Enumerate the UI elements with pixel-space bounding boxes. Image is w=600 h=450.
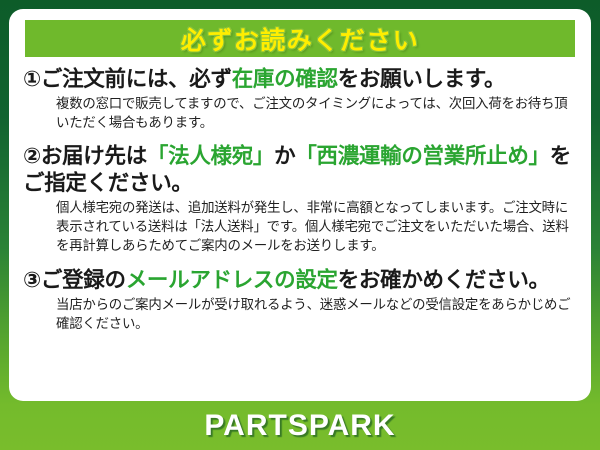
notice-item-list: ①ご注文前には、必ず在庫の確認をお願いします。 複数の窓口で販売してますので、ご… [9, 63, 591, 333]
notice-item-1-heading-part-1: ご注文前には、必ず [41, 67, 232, 91]
notice-item-2-heading-highlight-1: 「法人様宛」 [147, 144, 274, 168]
notice-item-2-marker: ② [23, 144, 41, 168]
notice-item-1: ①ご注文前には、必ず在庫の確認をお願いします。 複数の窓口で販売してますので、ご… [9, 66, 591, 132]
footer-bar: PARTSPARK [0, 401, 600, 450]
notice-card: 必ずお読みください ①ご注文前には、必ず在庫の確認をお願いします。 複数の窓口で… [0, 0, 600, 450]
notice-item-3-heading-highlight: メールアドレスの設定 [126, 268, 338, 292]
notice-item-3-heading: ③ご登録のメールアドレスの設定をお確かめください。 [23, 267, 579, 293]
notice-item-3: ③ご登録のメールアドレスの設定をお確かめください。 当店からのご案内メールが受け… [9, 267, 591, 333]
notice-item-2-heading-highlight-2: 「西濃運輸の営業所止め」 [295, 144, 549, 168]
notice-item-2-body: 個人様宅宛の発送は、追加送料が発生し、非常に高額となってしまいます。ご注文時に表… [56, 198, 579, 255]
notice-item-2: ②お届け先は「法人様宛」か「西濃運輸の営業所止め」をご指定ください。 個人様宅宛… [9, 143, 591, 255]
notice-item-1-body: 複数の窓口で販売してますので、ご注文のタイミングによっては、次回入荷をお待ち頂い… [56, 94, 579, 132]
notice-item-3-heading-part-3: をお確かめください。 [338, 268, 550, 292]
notice-item-2-heading-part-1: お届け先は [41, 144, 147, 168]
notice-item-1-heading: ①ご注文前には、必ず在庫の確認をお願いします。 [23, 66, 579, 92]
notice-item-3-marker: ③ [23, 268, 41, 292]
notice-panel: 必ずお読みください ①ご注文前には、必ず在庫の確認をお願いします。 複数の窓口で… [9, 9, 591, 401]
notice-item-3-heading-part-1: ご登録の [41, 268, 126, 292]
notice-item-3-body: 当店からのご案内メールが受け取れるよう、迷惑メールなどの受信設定をあらかじめご確… [56, 295, 579, 333]
brand-name: PARTSPARK [204, 409, 395, 443]
notice-item-1-marker: ① [23, 67, 41, 91]
notice-title: 必ずお読みください [181, 21, 420, 57]
notice-title-banner: 必ずお読みください [25, 20, 575, 57]
notice-item-1-heading-part-3: をお願いします。 [338, 67, 505, 91]
notice-item-1-heading-highlight: 在庫の確認 [232, 67, 338, 91]
notice-item-2-heading: ②お届け先は「法人様宛」か「西濃運輸の営業所止め」をご指定ください。 [23, 143, 579, 195]
notice-item-2-heading-part-3: か [274, 144, 295, 168]
